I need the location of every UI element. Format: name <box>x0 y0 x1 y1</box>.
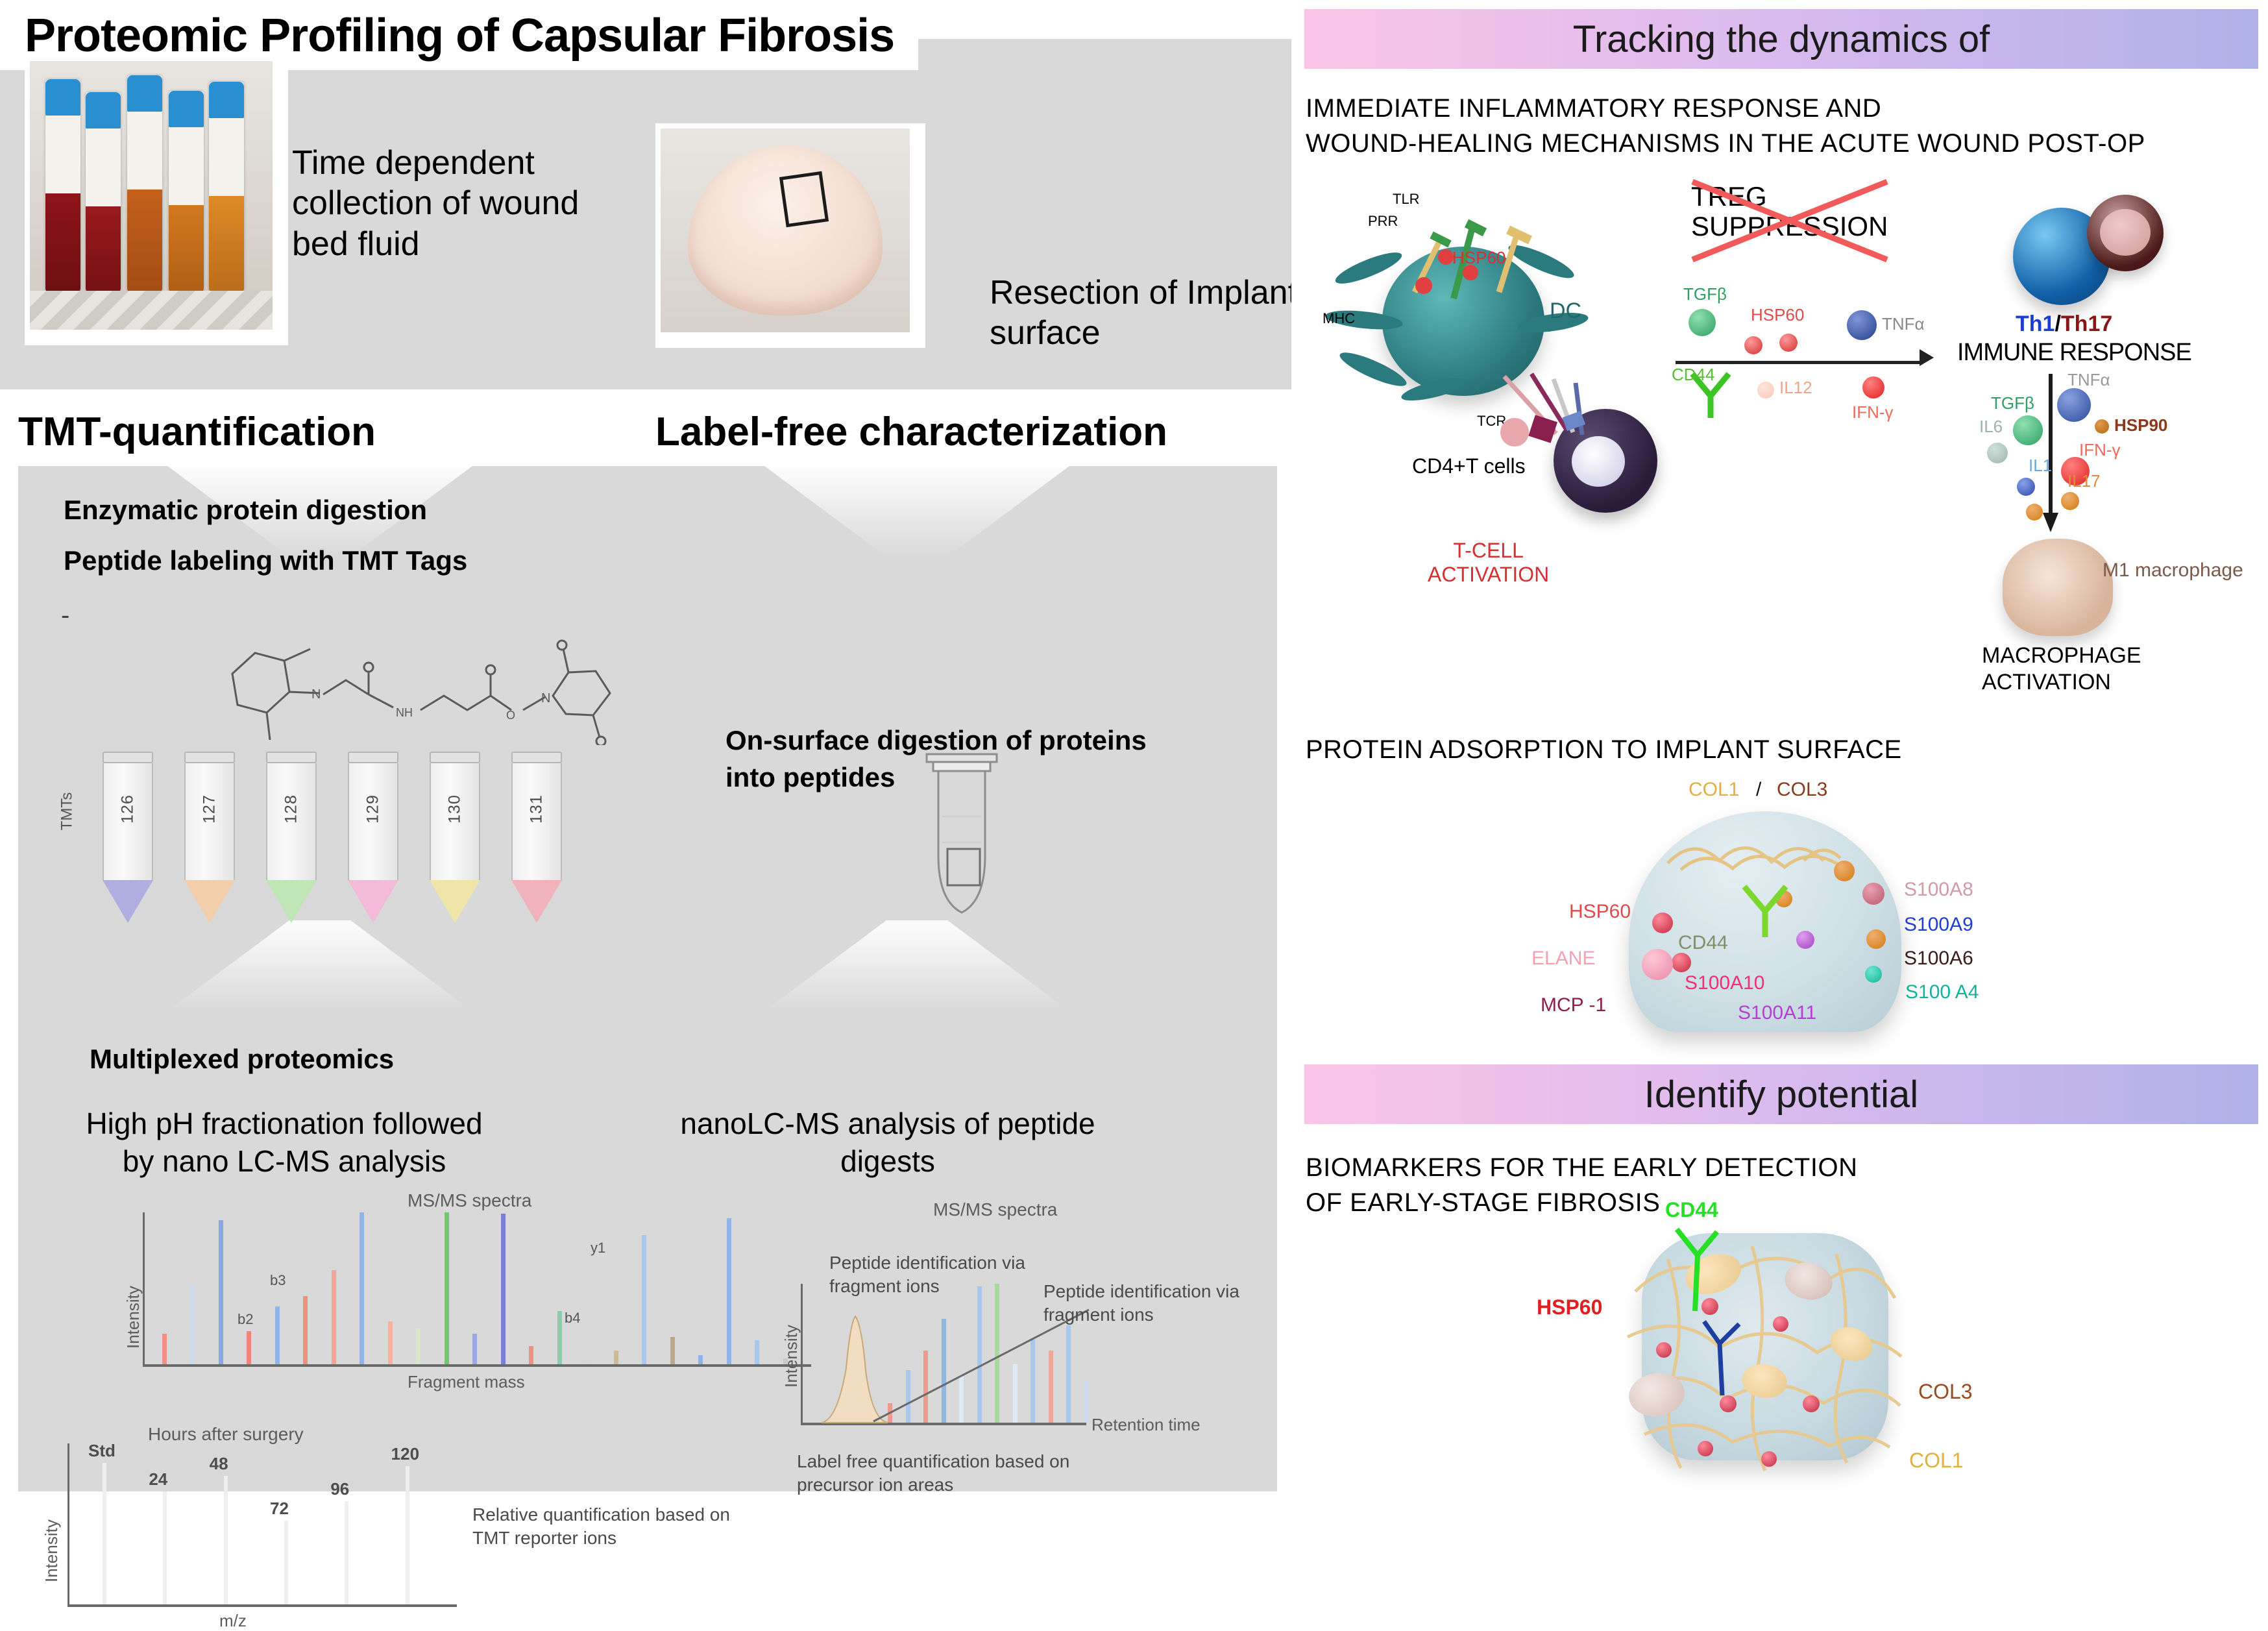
tmt-tube-label: 131 <box>528 794 546 824</box>
tmt-tag-chemical-structure: N NH O N <box>213 615 654 745</box>
hsp60-dc-label: HSP60 <box>1452 248 1506 268</box>
th17-label: Th17 <box>2061 312 2112 336</box>
proteomics-workflow-panel: Enzymatic protein digestion Peptide labe… <box>18 466 1277 1491</box>
ifng-label: IFN-γ <box>2079 440 2121 460</box>
s100a8-label: S100A8 <box>1904 879 1973 901</box>
hsp60-sphere <box>1656 1342 1672 1358</box>
hsp90-label: HSP90 <box>2114 415 2167 435</box>
th-separator: / <box>2055 312 2060 336</box>
immune-response-diagram: TLR PRR MHC TCR HSP60 DC CD4+T cells T-C… <box>1291 175 2268 681</box>
inflammatory-response-heading: IMMEDIATE INFLAMMATORY RESPONSE AND WOUN… <box>1306 91 2145 161</box>
banner-tracking-dynamics: Tracking the dynamics of <box>1304 9 2258 69</box>
spectrum-peak <box>332 1270 336 1364</box>
blood-tube <box>209 82 244 293</box>
cd44-antibody-icon <box>1733 883 1798 941</box>
peak-label-y1: y1 <box>591 1240 605 1257</box>
immune-response-label: IMMUNE RESPONSE <box>1957 339 2191 367</box>
x-axis-label: m/z <box>219 1611 247 1631</box>
peptide-identification-annotation: Peptide identification via fragment ions <box>1043 1280 1264 1327</box>
funnel-graphic-mid-left <box>167 920 472 1011</box>
tmts-axis-label: TMTs <box>58 792 76 831</box>
s100a9-label: S100A9 <box>1904 914 1973 936</box>
tube-rack <box>30 291 273 330</box>
dc-label: DC <box>1550 299 1581 324</box>
t-cell-activation-label: T-CELL ACTIVATION <box>1428 539 1549 587</box>
prr-label: PRR <box>1368 213 1398 230</box>
tnfa-label: TNFα <box>1882 314 1925 334</box>
tmt-tube: 130 <box>430 752 480 923</box>
col3-label: COL3 <box>1918 1380 1973 1404</box>
tmt-tube: 126 <box>103 752 153 923</box>
x-axis-label: Fragment mass <box>408 1372 525 1392</box>
s100a10-label: S100A10 <box>1685 972 1764 994</box>
microcentrifuge-tube-icon <box>914 745 1011 927</box>
y-axis-label: Intensity <box>123 1286 143 1349</box>
tmt-tube-label: 126 <box>119 794 138 824</box>
tcr-synapse <box>1486 370 1616 467</box>
wound-fluid-photo <box>30 61 273 330</box>
hsp60-sphere <box>1698 1441 1713 1456</box>
wound-fluid-photo-frame <box>25 56 288 345</box>
high-ph-fractionation-caption: High pH fractionation followed by nano L… <box>77 1105 492 1180</box>
il1-label: IL1 <box>2029 456 2052 476</box>
spectrum-peak <box>501 1214 506 1364</box>
tmt-tube: 127 <box>184 752 235 923</box>
spectrum-peak <box>445 1212 449 1364</box>
spectrum-peak <box>360 1212 364 1364</box>
ifng-sphere <box>1862 376 1884 399</box>
spectrum-peak <box>557 1311 562 1364</box>
cross-out-icon <box>1673 175 1933 273</box>
spectrum-peak <box>585 1301 590 1364</box>
il12-label: IL12 <box>1779 378 1812 398</box>
tnfa-label: TNFα <box>2067 370 2110 390</box>
svg-text:NH: NH <box>396 706 413 719</box>
reporter-ion-label: 48 <box>210 1454 228 1474</box>
chart-title: MS/MS spectra <box>933 1199 1057 1220</box>
tmt-tube-label: 130 <box>446 794 465 824</box>
hsp60-sphere <box>1761 1451 1777 1467</box>
spectrum-peak <box>614 1351 618 1364</box>
enzymatic-digestion-label: Enzymatic protein digestion <box>64 492 427 529</box>
col3-label: COL3 <box>1777 779 1827 801</box>
reporter-ion-label: 24 <box>149 1469 167 1490</box>
reporter-ion-label: Std <box>88 1441 116 1461</box>
chart-title: Hours after surgery <box>148 1424 304 1445</box>
tmt-tube-label: 128 <box>282 794 301 824</box>
il17-sphere <box>2061 492 2079 510</box>
tmt-tube: 129 <box>348 752 398 923</box>
spectrum-peak <box>529 1346 533 1364</box>
hsp60-label: HSP60 <box>1569 901 1631 923</box>
spectrum-peak <box>670 1337 675 1364</box>
tgfb-sphere <box>1689 309 1716 336</box>
arrow-right-icon <box>1676 347 1935 369</box>
fibrosis-capsule-diagram: CD44 HSP60 COL3 COL1 <box>1291 1201 2268 1512</box>
s100a4-label: S100 A4 <box>1905 981 1979 1003</box>
reporter-ion-bar <box>284 1521 288 1604</box>
s100a11-sphere <box>1796 931 1814 949</box>
peptide-labeling-label: Peptide labeling with TMT Tags <box>64 543 467 580</box>
cd44-label: CD44 <box>1665 1198 1718 1222</box>
col-separator: / <box>1756 779 1761 801</box>
s100a11-label: S100A11 <box>1738 1002 1816 1024</box>
mhc-label: MHC <box>1323 310 1355 327</box>
implant-specimen <box>688 145 883 315</box>
cd44-label: CD44 <box>1678 932 1728 954</box>
spectrum-peak <box>247 1331 251 1364</box>
il12-sphere <box>1757 382 1774 399</box>
msms-spectra-chart-tmt: MS/MS spectra Intensity Fragment mass b2… <box>128 1212 875 1401</box>
svg-text:N: N <box>541 691 550 705</box>
banner-label: Identify potential <box>1644 1073 1918 1116</box>
implant-photo-frame <box>655 123 925 348</box>
tnfa-sphere <box>1847 310 1877 340</box>
spectrum-peak <box>642 1235 646 1364</box>
labelfree-lcms-chart: MS/MS spectra Intensity Retention time P… <box>784 1264 1238 1472</box>
spectrum-peak <box>727 1218 731 1364</box>
peak-label-b2: b2 <box>238 1311 253 1328</box>
spectrum-peak <box>162 1334 167 1364</box>
th1-label: Th1 <box>2016 312 2055 336</box>
tgfb-sphere <box>2013 415 2043 445</box>
s100a6-sphere <box>1866 929 1886 949</box>
macrophage-activation-label: MACROPHAGE ACTIVATION <box>1982 643 2141 696</box>
resection-marker <box>779 171 829 227</box>
blood-tube <box>86 92 121 293</box>
banner-identify-potential: Identify potential <box>1304 1064 2258 1124</box>
tnfa-sphere <box>2057 388 2091 422</box>
left-workflow-column: Proteomic Profiling of Capsular Fibrosis <box>0 0 1291 1513</box>
tmt-tube-label: 127 <box>201 794 219 824</box>
s100a8-sphere <box>1862 883 1884 905</box>
reporter-ion-bar <box>224 1476 228 1604</box>
tmt-tube-rack: TMTs 126 127 128 129 <box>103 752 596 933</box>
elane-label: ELANE <box>1531 948 1595 970</box>
peak-label-b4: b4 <box>565 1310 580 1327</box>
il17-label: IL17 <box>2067 471 2101 491</box>
y-axis-label: Intensity <box>42 1519 62 1582</box>
s100a10-sphere <box>1672 953 1691 972</box>
spectrum-peak <box>303 1296 308 1364</box>
peak-label-b3: b3 <box>270 1272 286 1289</box>
funnel-graphic-top-right <box>764 466 1069 557</box>
y-axis-label: Intensity <box>781 1325 801 1388</box>
col1-label: COL1 <box>1909 1449 1964 1473</box>
funnel-graphic-mid-right <box>764 920 1069 1011</box>
ifng-label: IFN-γ <box>1852 402 1894 423</box>
reporter-ion-label: 72 <box>270 1499 289 1519</box>
right-biology-column: Tracking the dynamics of IMMEDIATE INFLA… <box>1291 0 2268 1513</box>
svg-text:N: N <box>311 687 321 702</box>
spectrum-peak <box>219 1220 223 1364</box>
th17-cell <box>2087 195 2164 271</box>
m1-macrophage-label: M1 macrophage <box>2103 559 2243 582</box>
tgfb-label: TGFβ <box>1683 284 1727 304</box>
label-free-heading: Label-free characterization <box>655 409 1167 455</box>
reporter-ion-bar <box>406 1466 409 1604</box>
hsp60-label: HSP60 <box>1537 1295 1602 1319</box>
banner-label: Tracking the dynamics of <box>1573 18 1990 61</box>
mcp1-sphere <box>1642 949 1673 980</box>
col1-label: COL1 <box>1689 779 1739 801</box>
reporter-ion-label: 96 <box>330 1479 349 1499</box>
spectrum-peak <box>416 1328 421 1364</box>
reporter-ion-bar <box>345 1501 348 1604</box>
th-macrophage-group: Th1/Th17 IMMUNE RESPONSE TNFα TGFβ IL6 H… <box>1940 188 2226 681</box>
th-label-group: Th1/Th17 <box>2016 312 2112 337</box>
labelfree-quantification-annotation: Label free quantification based on precu… <box>797 1450 1082 1497</box>
protein-adsorption-heading: PROTEIN ADSORPTION TO IMPLANT SURFACE <box>1306 732 1902 767</box>
m1-macrophage-cell <box>2003 539 2113 636</box>
implant-photo <box>661 129 910 332</box>
cytokine-cloud-middle: TGFβ HSP60 TNFα CD44 IL12 IFN-γ <box>1668 279 1940 448</box>
tmt-quantification-heading: TMT-quantification <box>18 409 376 455</box>
il6-label: IL6 <box>1979 417 2003 437</box>
relative-quantification-annotation: Relative quantification based on TMT rep… <box>472 1503 745 1551</box>
hsp60-sphere <box>1773 1316 1788 1332</box>
treg-suppression-group: TREG SUPPRESSION <box>1673 175 1933 273</box>
tmt-tube: 128 <box>266 752 317 923</box>
spectrum-peak <box>190 1285 195 1364</box>
hsp60-sphere <box>1652 913 1673 933</box>
tmt-tube-label: 129 <box>364 794 383 824</box>
resection-caption: Resection of Implant surface <box>990 273 1301 354</box>
mcp1-label: MCP -1 <box>1541 994 1606 1016</box>
nanolc-ms-caption: nanoLC-MS analysis of peptide digests <box>667 1105 1108 1180</box>
spectrum-peak <box>388 1321 393 1364</box>
chart-title: MS/MS spectra <box>408 1190 531 1211</box>
tmt-tube: 131 <box>511 752 562 923</box>
blood-tube <box>127 75 162 293</box>
il17-sphere <box>2026 504 2043 521</box>
s100a6-label: S100A6 <box>1904 948 1973 970</box>
hsp60-sphere <box>1803 1395 1820 1412</box>
spectrum-peak <box>472 1334 477 1364</box>
blood-tube <box>169 91 204 293</box>
hsp90-sphere <box>2095 419 2109 434</box>
reporter-ion-bar <box>103 1463 106 1604</box>
il1-sphere <box>2017 478 2035 496</box>
blood-tube <box>45 79 80 293</box>
multiplexed-proteomics-label: Multiplexed proteomics <box>90 1044 394 1075</box>
protein-sphere <box>1834 861 1855 881</box>
tlr-label: TLR <box>1393 191 1420 208</box>
dash-marker: - <box>61 601 69 630</box>
protein-adsorption-diagram: COL1 / COL3 HSP60 ELANE CD44 MCP -1 S100… <box>1291 785 2268 1064</box>
reporter-ion-bar <box>163 1491 167 1604</box>
il6-sphere <box>1987 443 2008 463</box>
hsp60-label: HSP60 <box>1751 305 1804 325</box>
s100a4-sphere <box>1865 966 1882 983</box>
spectrum-peak <box>698 1355 703 1364</box>
time-dependent-caption: Time dependent collection of wound bed f… <box>292 143 629 264</box>
svg-text:O: O <box>506 709 515 722</box>
tmt-reporter-ion-chart: Hours after surgery Intensity m/z Std244… <box>44 1433 524 1628</box>
cd44-antibody-icon <box>1655 1220 1739 1318</box>
spectrum-peak <box>755 1340 759 1364</box>
tgfb-label: TGFβ <box>1991 393 2034 413</box>
spectrum-peak <box>275 1306 280 1364</box>
reporter-ion-label: 120 <box>391 1444 419 1464</box>
cd4-t-cells-label: CD4+T cells <box>1412 454 1526 478</box>
page-title: Proteomic Profiling of Capsular Fibrosis <box>25 9 894 62</box>
antibody-blue-icon <box>1689 1318 1766 1408</box>
